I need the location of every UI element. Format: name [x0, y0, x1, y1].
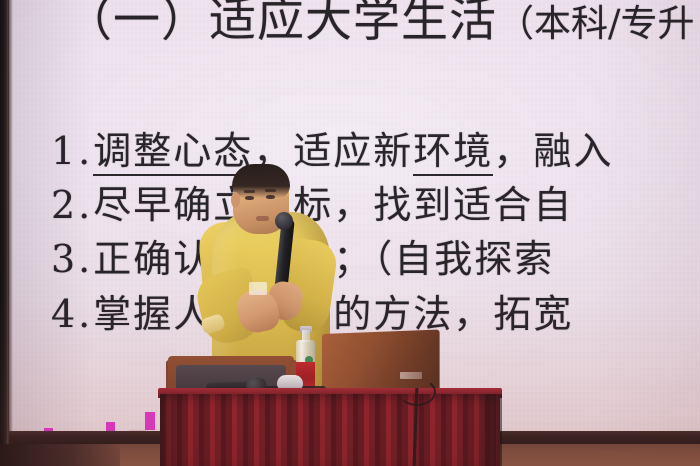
- slide-item-1-tail: ，融入: [493, 129, 613, 173]
- slide-item-1-number: 1.: [51, 129, 93, 173]
- slide-heading: （一）适应大学生活（本科/专升: [65, 0, 694, 47]
- slide-fragment-3: [145, 412, 155, 430]
- slide-heading-main: （一）适应大学生活: [65, 0, 497, 48]
- speaker-eyebrow-left: [244, 190, 255, 193]
- slide-item-2-number: 2.: [51, 183, 93, 227]
- speaker-eye-right: [266, 195, 275, 199]
- table-drape: [160, 394, 500, 466]
- lecture-photo-scene: （一）适应大学生活（本科/专升 1.调整心态，适应新环境，融入 2.尽早确立目标…: [0, 0, 700, 466]
- speaker-badge: [249, 282, 267, 295]
- stage-floor-shadow: [0, 444, 120, 466]
- slide-item-3-sep: （自我探索: [373, 237, 554, 281]
- table-shadow-left: [160, 394, 186, 466]
- slide-heading-tail: （本科/专升: [497, 2, 694, 45]
- slide-item-1-keyword-a: 调整心态: [93, 129, 253, 176]
- speaker-eyebrow-right: [265, 189, 276, 192]
- slide-item-1-keyword-b: 环境: [413, 129, 493, 176]
- speaker-mouth: [256, 216, 269, 221]
- speaker-hair: [232, 164, 290, 198]
- table-shadow-right: [470, 394, 502, 466]
- screen-left-frame-glow: [8, 0, 13, 466]
- speaker-eye-left: [245, 196, 254, 200]
- slide-item-1: 1.调整心态，适应新环境，融入: [51, 120, 613, 175]
- speaker-ear: [231, 192, 240, 208]
- slide-item-3-number: 3.: [51, 237, 93, 281]
- slide-item-4-sep: ，拓宽: [453, 292, 573, 336]
- slide-item-2-sep: ，找到适合自: [333, 183, 573, 227]
- slide-item-4-number: 4.: [51, 292, 93, 336]
